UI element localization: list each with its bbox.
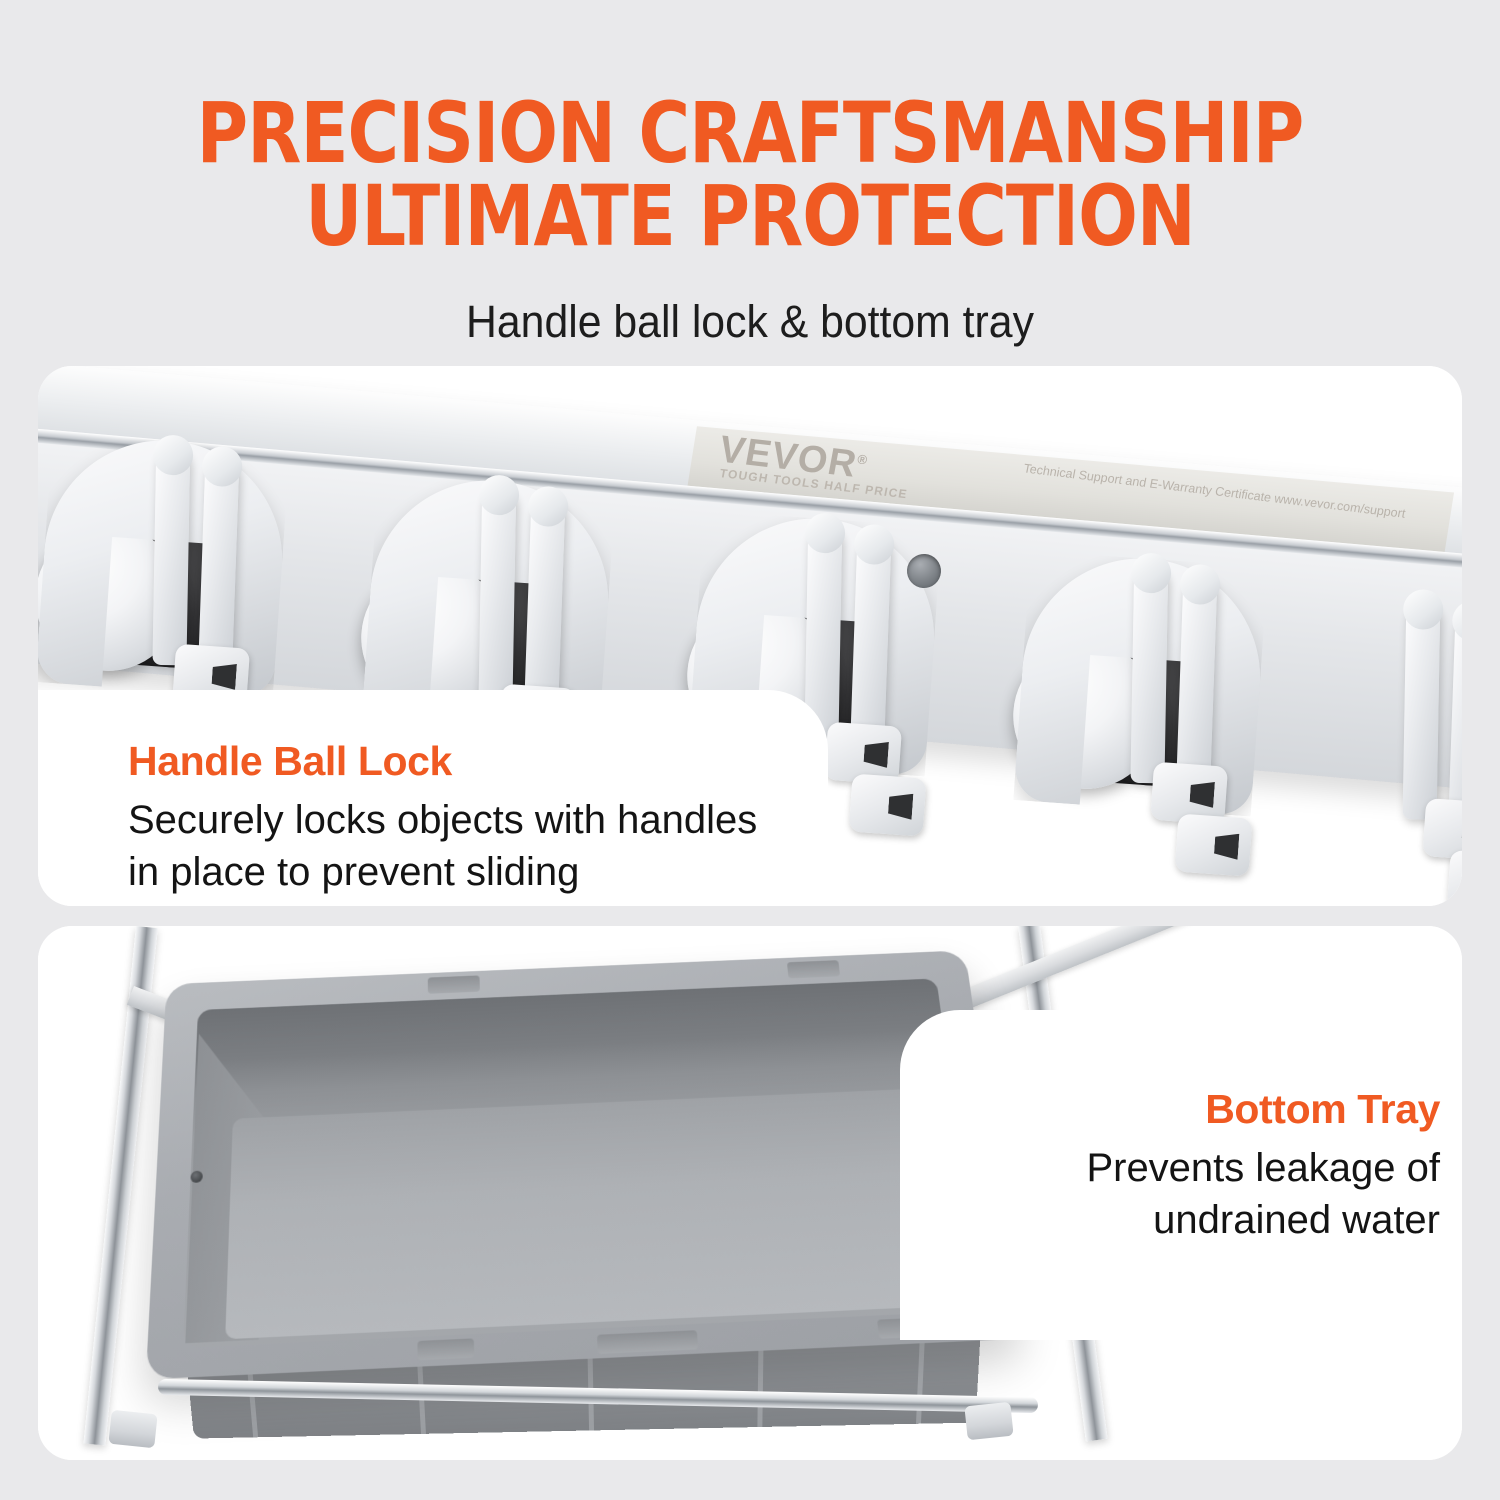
hook-arm <box>478 487 516 706</box>
callout-body-line-2: undrained water <box>934 1194 1440 1246</box>
tray-lug <box>417 1338 474 1360</box>
ball-lock-slot <box>1295 572 1462 906</box>
tray-floor <box>225 1088 964 1339</box>
callout-handle-ball-lock: Handle Ball Lock Securely locks objects … <box>128 738 757 898</box>
latch-tab <box>849 774 927 837</box>
tray-lug <box>428 975 480 993</box>
page-subheadline: Handle ball lock & bottom tray <box>38 296 1463 348</box>
tray-interior <box>183 978 982 1347</box>
registered-mark: ® <box>856 452 869 468</box>
cart-foot-left <box>108 1410 157 1449</box>
tray-lug <box>597 1330 698 1354</box>
cart-foot-right <box>964 1402 1013 1441</box>
callout-body: Prevents leakage of undrained water <box>934 1142 1440 1246</box>
latch-tab <box>1175 814 1253 877</box>
callout-title: Handle Ball Lock <box>128 738 757 785</box>
hook-arm <box>1130 565 1168 784</box>
callout-body: Securely locks objects with handles in p… <box>128 794 757 898</box>
latch-tab <box>1447 850 1462 906</box>
page-headline: PRECISION CRAFTSMANSHIP ULTIMATE PROTECT… <box>53 92 1448 258</box>
callout-title: Bottom Tray <box>934 1086 1440 1133</box>
hook-arm <box>152 447 190 666</box>
tray-lug <box>787 960 840 978</box>
hook-arm <box>1403 601 1441 820</box>
plastic-tray-bin <box>158 954 994 1354</box>
callout-body-line-1: Securely locks objects with handles <box>128 794 757 846</box>
tray-rim <box>146 950 1021 1379</box>
headline-line-2: ULTIMATE PROTECTION <box>53 175 1448 258</box>
callout-body-line-2: in place to prevent sliding <box>128 846 757 898</box>
product-feature-page: PRECISION CRAFTSMANSHIP ULTIMATE PROTECT… <box>0 0 1500 1500</box>
callout-bottom-tray: Bottom Tray Prevents leakage of undraine… <box>934 1086 1440 1246</box>
ball-lock-slot <box>971 532 1293 882</box>
hook-arm <box>1448 612 1462 831</box>
callout-body-line-1: Prevents leakage of <box>934 1142 1440 1194</box>
